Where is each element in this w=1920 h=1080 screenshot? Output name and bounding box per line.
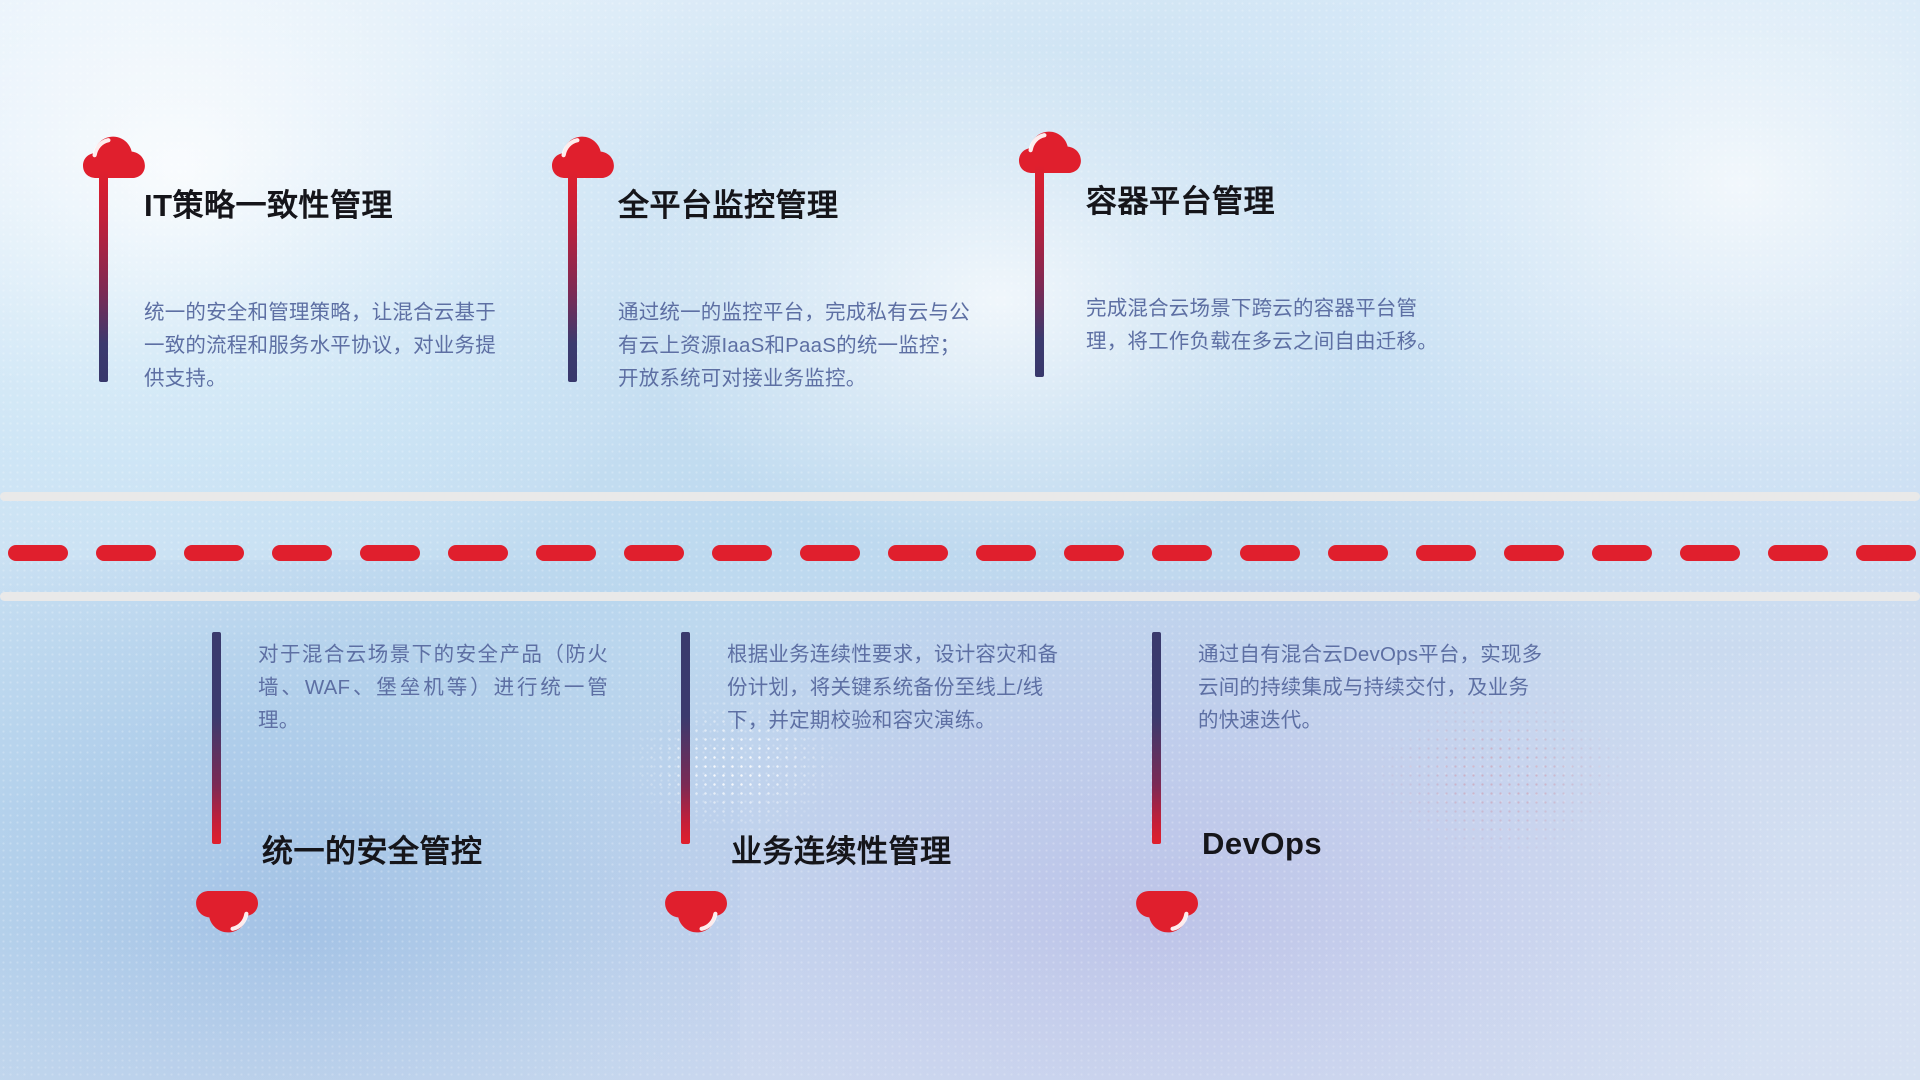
bottom-heading-1: 统一的安全管控 <box>262 826 483 871</box>
divider-dash <box>96 545 156 561</box>
bottom-heading-3: DevOps <box>1202 826 1322 862</box>
divider-dash <box>536 545 596 561</box>
divider-dash <box>1856 545 1916 561</box>
divider-dash <box>360 545 420 561</box>
bottom-body-3: 通过自有混合云DevOps平台，实现多云间的持续集成与持续交付，及业务的快速迭代… <box>1198 638 1548 737</box>
cloud-icon <box>1135 890 1199 936</box>
top-heading-1: IT策略一致性管理 <box>144 180 393 225</box>
divider-band-top <box>0 492 1920 501</box>
bottom-heading-2: 业务连续性管理 <box>731 826 952 871</box>
divider-dash <box>1768 545 1828 561</box>
top-body-1: 统一的安全和管理策略，让混合云基于一致的流程和服务水平协议，对业务提供支持。 <box>144 296 496 395</box>
divider-dash <box>1416 545 1476 561</box>
divider-dash <box>976 545 1036 561</box>
divider-dash <box>712 545 772 561</box>
cloud-icon <box>551 133 615 179</box>
divider-dash <box>1152 545 1212 561</box>
divider-dash <box>1064 545 1124 561</box>
divider-dash <box>8 545 68 561</box>
connector-stem <box>1152 632 1161 844</box>
divider-dash <box>800 545 860 561</box>
connector-stem <box>681 632 690 844</box>
divider-dash <box>1504 545 1564 561</box>
cloud-icon <box>1018 128 1082 174</box>
cloud-icon <box>664 890 728 936</box>
top-heading-2: 全平台监控管理 <box>618 180 839 225</box>
connector-stem <box>212 632 221 844</box>
top-body-2: 通过统一的监控平台，完成私有云与公有云上资源IaaS和PaaS的统一监控；开放系… <box>618 296 980 395</box>
divider-dash <box>888 545 948 561</box>
bottom-body-1: 对于混合云场景下的安全产品（防火墙、WAF、堡垒机等）进行统一管理。 <box>258 638 608 737</box>
divider-dash <box>448 545 508 561</box>
cloud-icon <box>82 133 146 179</box>
bottom-body-2: 根据业务连续性要求，设计容灾和备份计划，将关键系统备份至线上/线下，并定期校验和… <box>727 638 1077 737</box>
divider-dash <box>1592 545 1652 561</box>
top-body-3: 完成混合云场景下跨云的容器平台管理，将工作负载在多云之间自由迁移。 <box>1086 292 1438 358</box>
divider-dash <box>1680 545 1740 561</box>
top-heading-3: 容器平台管理 <box>1086 176 1275 221</box>
divider-band-bottom <box>0 592 1920 601</box>
divider-dash <box>272 545 332 561</box>
divider-dash <box>184 545 244 561</box>
background-vignette <box>0 0 1920 1080</box>
divider-dash <box>1240 545 1300 561</box>
divider-dash <box>624 545 684 561</box>
connector-stem <box>568 170 577 382</box>
cloud-icon <box>195 890 259 936</box>
red-dashed-divider <box>0 545 1920 561</box>
connector-stem <box>1035 165 1044 377</box>
divider-dash <box>1328 545 1388 561</box>
connector-stem <box>99 170 108 382</box>
